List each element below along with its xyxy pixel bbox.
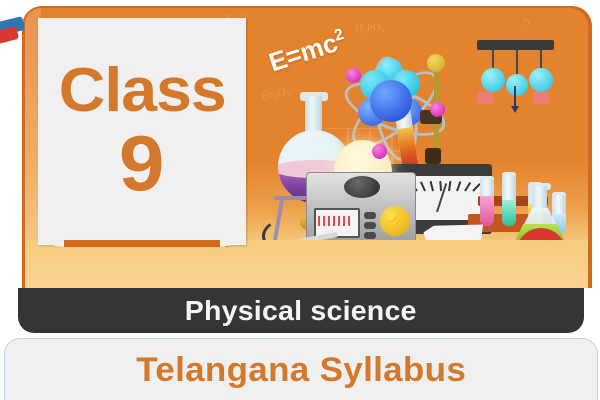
rack-test-tube bbox=[480, 176, 494, 226]
electron-dot bbox=[430, 102, 445, 117]
tube-liquid bbox=[480, 196, 494, 226]
bar-magnet-red bbox=[0, 26, 19, 47]
high-voltage-icon: ⚡ bbox=[380, 206, 410, 236]
syllabus-label: Telangana Syllabus bbox=[136, 351, 466, 390]
nucleus-sphere bbox=[370, 80, 412, 122]
doodle-formula: N bbox=[523, 16, 531, 28]
doodle-formula: Fe₂O₃ bbox=[260, 83, 292, 104]
cradle-string bbox=[516, 50, 518, 76]
electron-dot bbox=[346, 68, 361, 83]
cradle-ball bbox=[506, 74, 528, 96]
class-number: 9 bbox=[119, 124, 165, 202]
tube-cap bbox=[480, 176, 494, 179]
syllabus-poster: H₃PO₄ Fe₂O₃ OH Al Br H₂O CH₄ Hg N NaCl bbox=[0, 0, 600, 400]
syllabus-bar: Telangana Syllabus bbox=[4, 338, 598, 400]
subject-label: Physical science bbox=[185, 295, 417, 327]
electron-dot bbox=[372, 144, 387, 159]
stand-clamp bbox=[425, 148, 441, 164]
subject-bar: Physical science bbox=[18, 288, 584, 333]
cradle-block bbox=[533, 92, 549, 104]
generator-button bbox=[364, 222, 376, 229]
cradle-ball bbox=[481, 68, 505, 92]
cradle-top-bar bbox=[477, 40, 554, 50]
cradle-string bbox=[492, 50, 494, 70]
waveform-display bbox=[318, 216, 352, 226]
doodle-formula: H₃PO₄ bbox=[355, 22, 385, 34]
cradle-ball bbox=[529, 68, 553, 92]
cradle-block bbox=[477, 92, 493, 104]
generator-knob bbox=[344, 176, 380, 198]
desk-surface bbox=[25, 240, 588, 288]
class-card-content: Class 9 bbox=[38, 18, 246, 245]
generator-button bbox=[364, 212, 376, 219]
cradle-string bbox=[540, 50, 542, 70]
generator-button bbox=[364, 232, 376, 239]
stand-knob bbox=[427, 54, 445, 72]
class-label: Class bbox=[59, 61, 226, 121]
force-arrow-icon bbox=[514, 86, 516, 108]
tube-cap bbox=[502, 172, 516, 175]
